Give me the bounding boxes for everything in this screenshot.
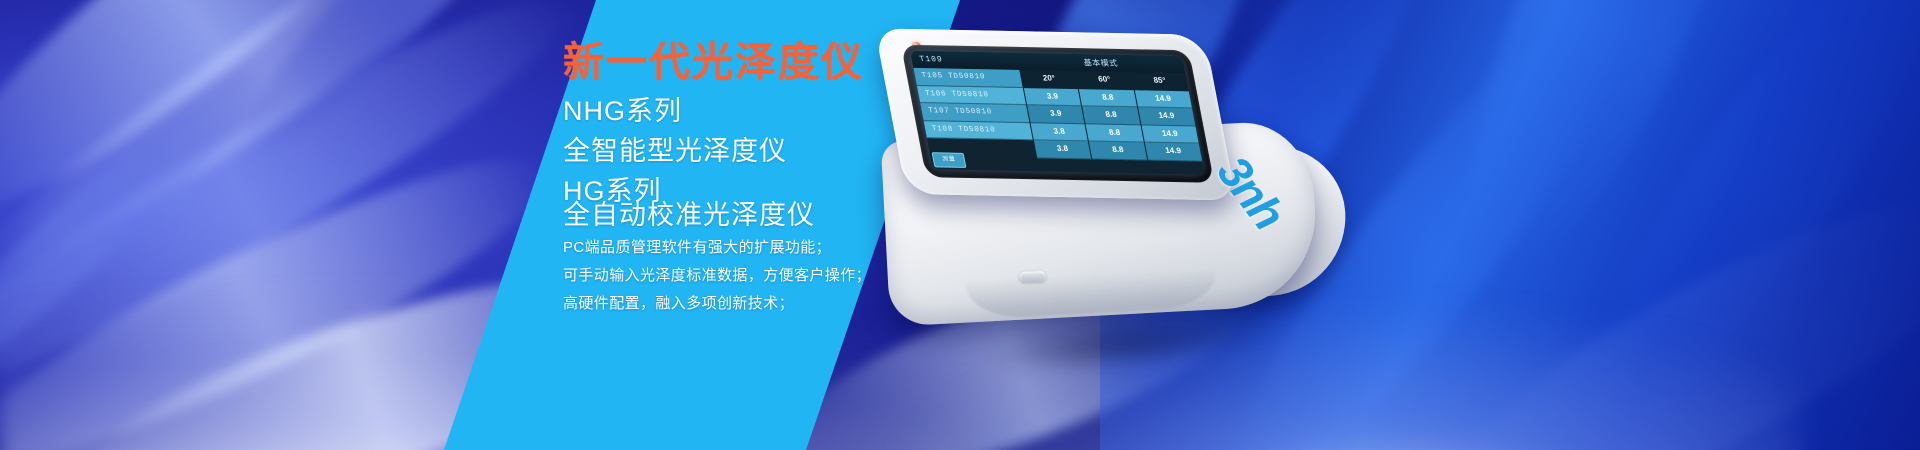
table-row[interactable]: T108 TD50810	[923, 121, 1032, 141]
device-lcd-screen[interactable]: T109 基本模式 10:51 2019.05.08 T105 TD50810 …	[910, 51, 1205, 175]
screen-mode-label: 基本模式	[1082, 55, 1119, 71]
feature-line-3: 高硬件配置，融入多项创新技术；	[563, 296, 794, 311]
table-row[interactable]: T105 TD50810	[913, 68, 1022, 88]
column-header: 20°	[1020, 70, 1078, 89]
value-cell: 3.8	[1030, 123, 1088, 142]
gloss-meter-device: T109 基本模式 10:51 2019.05.08 T105 TD50810 …	[865, 10, 1345, 430]
headline-line-2: 全智能型光泽度仪	[563, 138, 787, 165]
measure-button[interactable]: 测量	[932, 152, 967, 168]
value-cell: 8.8	[1079, 89, 1137, 108]
value-cell: 14.9	[1141, 125, 1199, 144]
column-header: 60°	[1076, 71, 1134, 90]
table-row[interactable]: T107 TD50810	[920, 103, 1029, 123]
value-cell: 8.8	[1086, 124, 1144, 143]
value-cell: 14.9	[1145, 142, 1203, 161]
value-cell: 14.9	[1138, 107, 1196, 126]
value-cell: 3.8	[1034, 140, 1092, 159]
value-cell: 14.9	[1134, 90, 1192, 109]
banner-title: 新一代光泽度仪	[563, 42, 864, 83]
table-row[interactable]: T106 TD50810	[917, 85, 1026, 105]
value-cell: 3.9	[1027, 105, 1085, 124]
value-cell: 8.8	[1089, 141, 1147, 160]
headline-line-1: NHG系列	[563, 98, 682, 125]
column-header: 85°	[1131, 72, 1189, 91]
device-side-button[interactable]	[1019, 271, 1045, 282]
table-value-columns: 20° 3.9 3.9 3.8 3.8 60° 8.8 8.8 8.8 8.8	[1019, 70, 1204, 175]
feature-line-1: PC端品质管理软件有强大的扩展功能；	[563, 240, 831, 255]
promo-banner: 新一代光泽度仪 NHG系列 全智能型光泽度仪 HG系列 全自动校准光泽度仪 PC…	[0, 0, 1920, 450]
feature-line-2: 可手动输入光泽度标准数据，方便客户操作；	[563, 268, 871, 283]
value-cell: 8.8	[1082, 106, 1140, 125]
headline-line-4: 全自动校准光泽度仪	[563, 202, 815, 229]
value-cell: 3.9	[1024, 88, 1082, 107]
